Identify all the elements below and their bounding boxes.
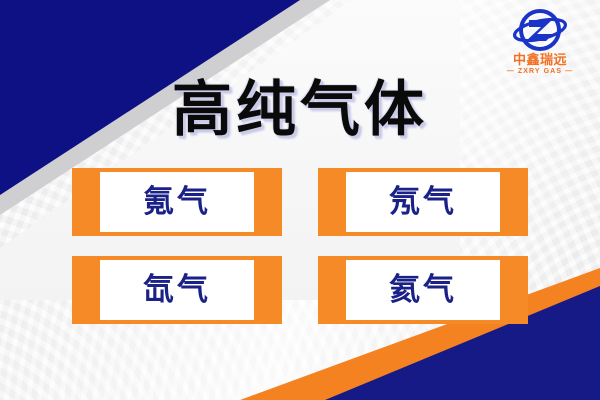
product-box-4[interactable]: 氦气	[318, 256, 528, 324]
brand-logo: 中鑫瑞远 — ZXRY GAS —	[494, 7, 586, 79]
product-label-grid: 氪气 氖气 氙气 氦气	[72, 168, 528, 324]
brand-name-en: — ZXRY GAS —	[494, 67, 586, 76]
product-label-3: 氙气	[143, 273, 211, 307]
product-label-1: 氪气	[143, 185, 211, 219]
product-box-2[interactable]: 氖气	[318, 168, 528, 236]
zxry-gas-z-globe-logo-icon	[512, 7, 568, 55]
poster-canvas: 中鑫瑞远 — ZXRY GAS — 高纯气体 氪气 氖气 氙气 氦气	[0, 0, 600, 400]
product-box-4-panel: 氦气	[346, 260, 500, 320]
page-title: 高纯气体	[0, 78, 600, 142]
product-box-1[interactable]: 氪气	[72, 168, 282, 236]
product-box-3[interactable]: 氙气	[72, 256, 282, 324]
product-box-2-panel: 氖气	[346, 172, 500, 232]
brand-name-cn: 中鑫瑞远	[494, 53, 586, 67]
product-label-2: 氖气	[389, 185, 457, 219]
product-box-3-panel: 氙气	[100, 260, 254, 320]
product-box-1-panel: 氪气	[100, 172, 254, 232]
product-label-4: 氦气	[389, 273, 457, 307]
